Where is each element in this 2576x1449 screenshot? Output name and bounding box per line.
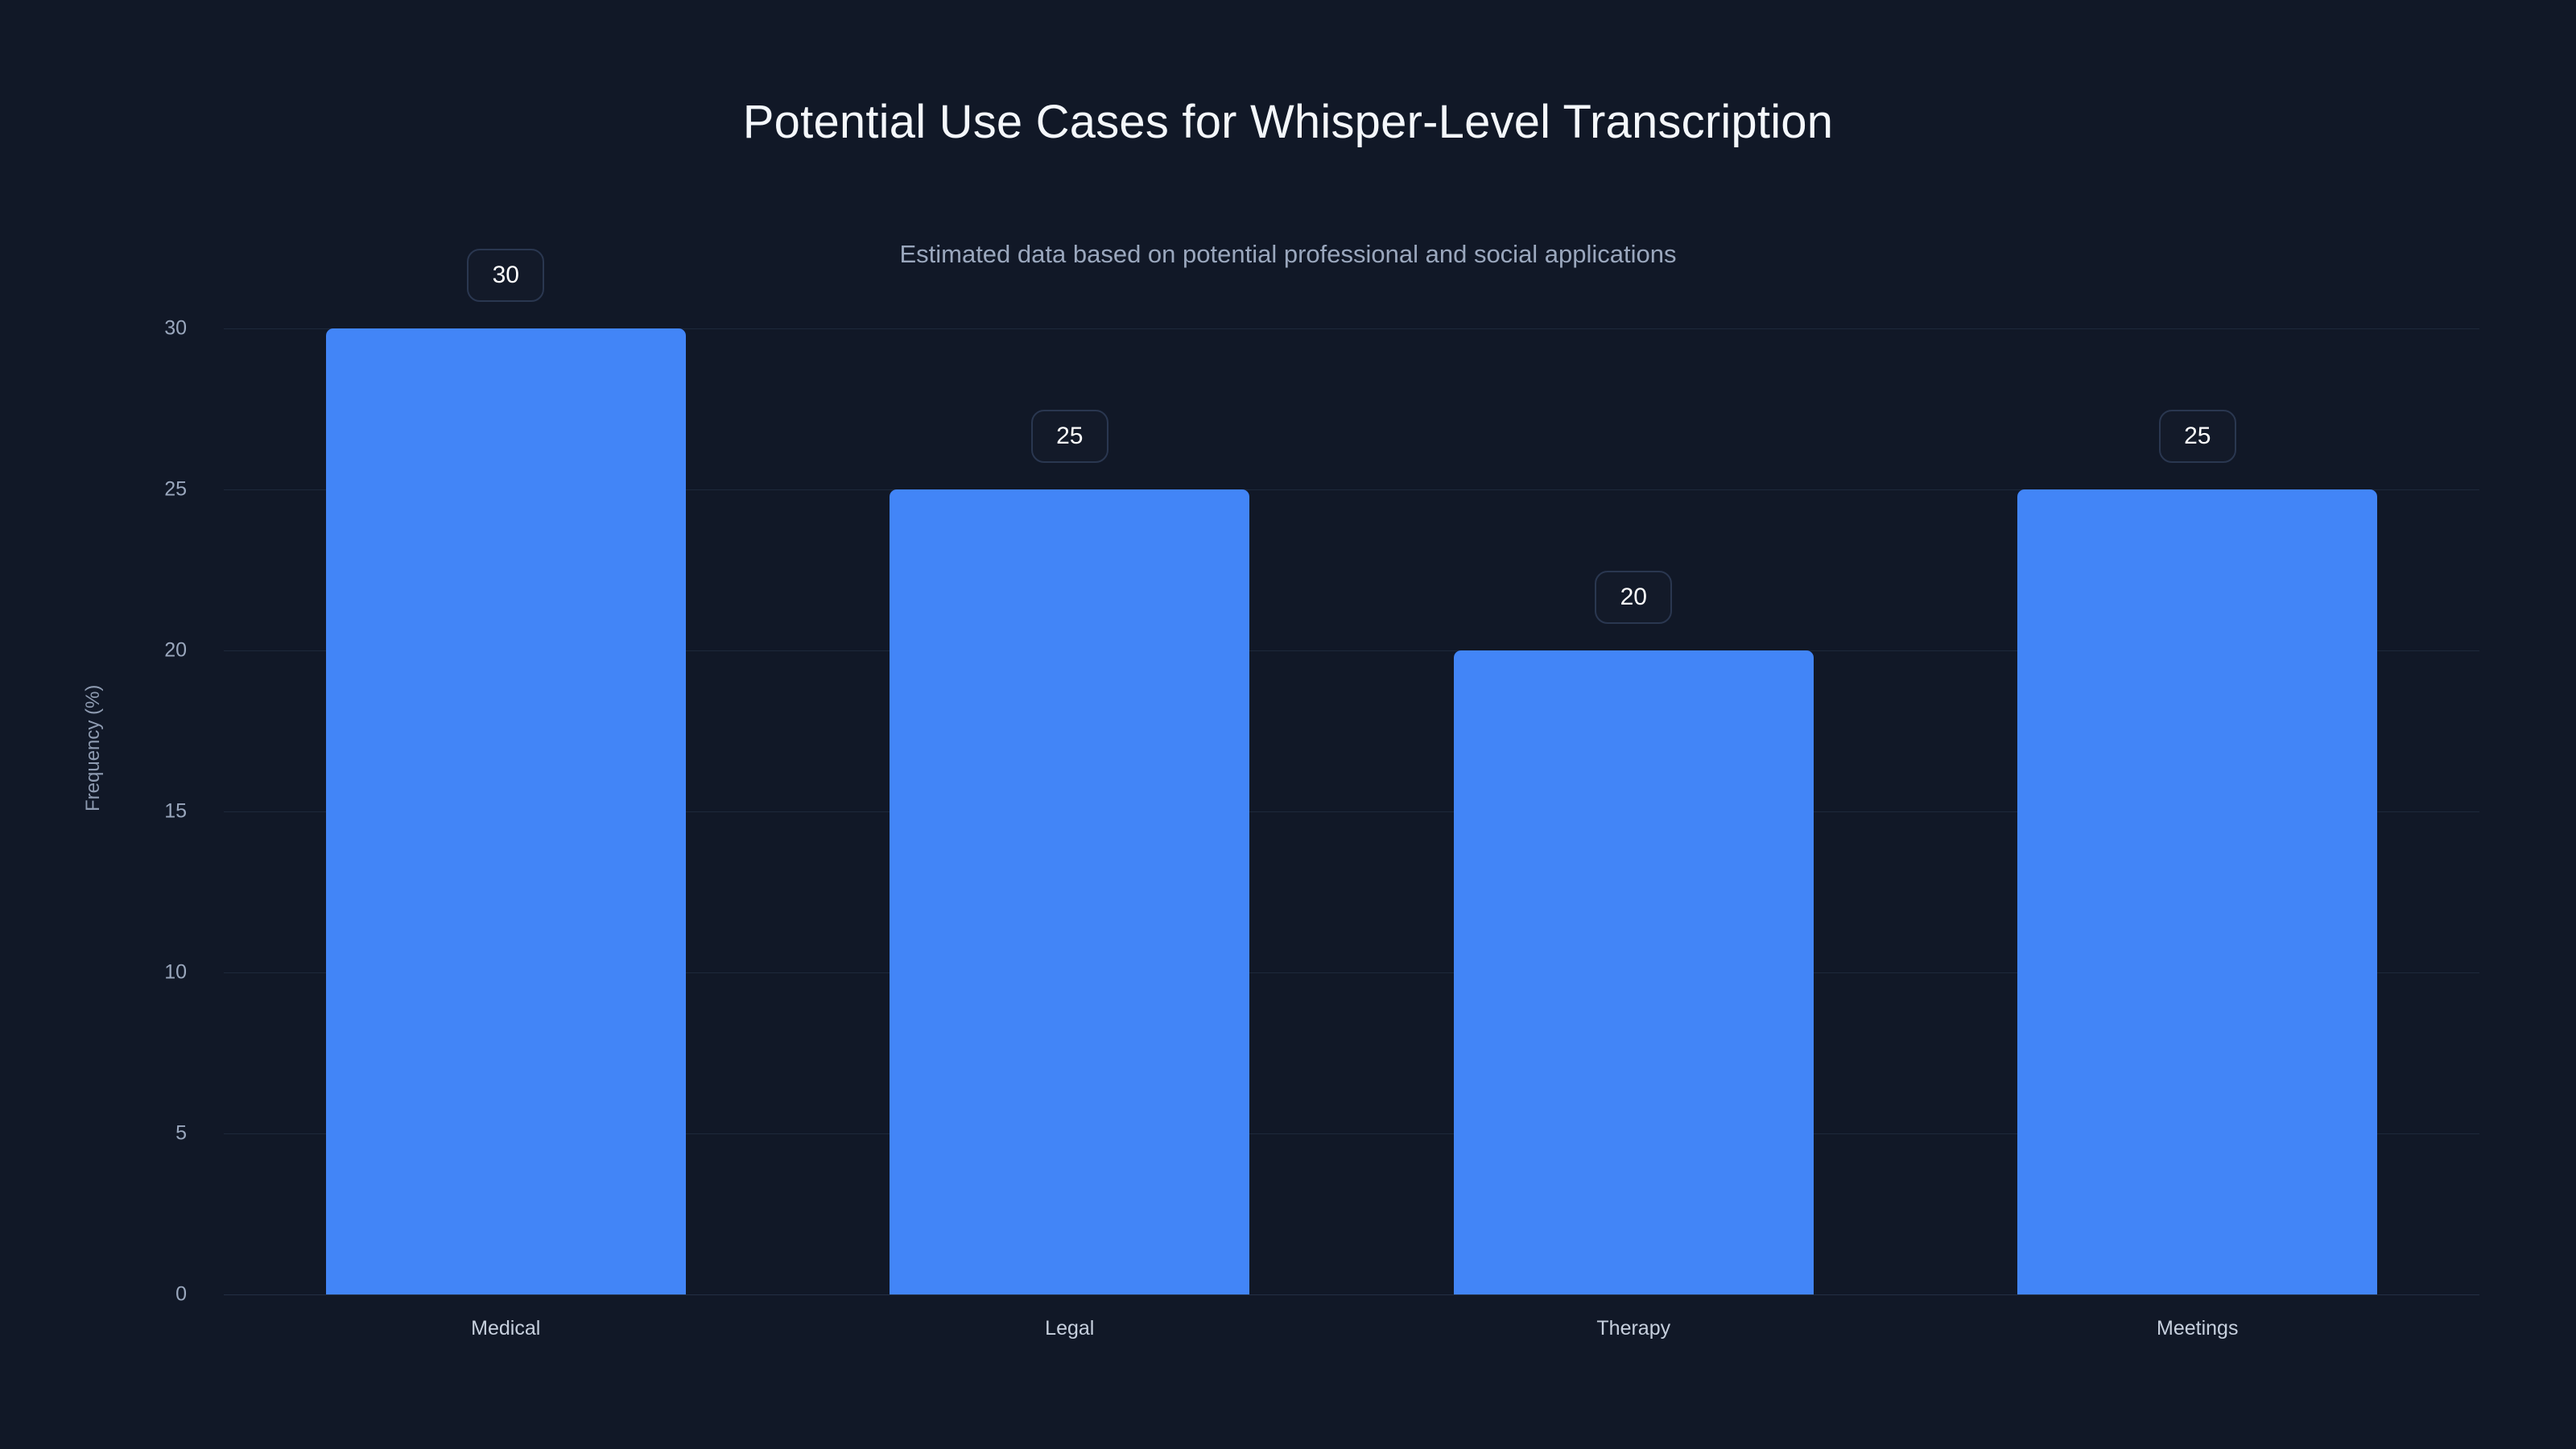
chart-title: Potential Use Cases for Whisper-Level Tr…	[0, 95, 2576, 149]
bar[interactable]	[1454, 650, 1814, 1294]
bar-value-badge: 30	[467, 249, 544, 302]
y-axis-tick-label: 5	[175, 1122, 187, 1146]
chart-subtitle: Estimated data based on potential profes…	[0, 240, 2576, 269]
y-axis-tick-label: 15	[164, 800, 187, 824]
bar[interactable]	[2017, 489, 2377, 1294]
plot-area	[224, 328, 2479, 1294]
x-axis-tick-label: Legal	[1045, 1317, 1094, 1340]
y-axis-tick-label: 10	[164, 961, 187, 985]
x-axis-tick-label: Medical	[471, 1317, 540, 1340]
bar-value-badge: 25	[1031, 410, 1108, 463]
bar[interactable]	[326, 328, 686, 1294]
bar-value-badge: 25	[2159, 410, 2236, 463]
gridline	[224, 1294, 2479, 1295]
bar-chart: Potential Use Cases for Whisper-Level Tr…	[0, 0, 2576, 1449]
bar[interactable]	[890, 489, 1249, 1294]
bar-value-badge: 20	[1595, 571, 1672, 624]
y-axis-tick-label: 25	[164, 478, 187, 502]
y-axis-tick-label: 0	[175, 1283, 187, 1307]
x-axis-tick-labels: MedicalLegalTherapyMeetings	[224, 1317, 2479, 1354]
y-axis-tick-label: 30	[164, 317, 187, 341]
y-axis-tick-label: 20	[164, 639, 187, 663]
x-axis-tick-label: Therapy	[1596, 1317, 1670, 1340]
x-axis-tick-label: Meetings	[2157, 1317, 2238, 1340]
y-axis-tick-labels: 051015202530	[0, 328, 224, 1294]
